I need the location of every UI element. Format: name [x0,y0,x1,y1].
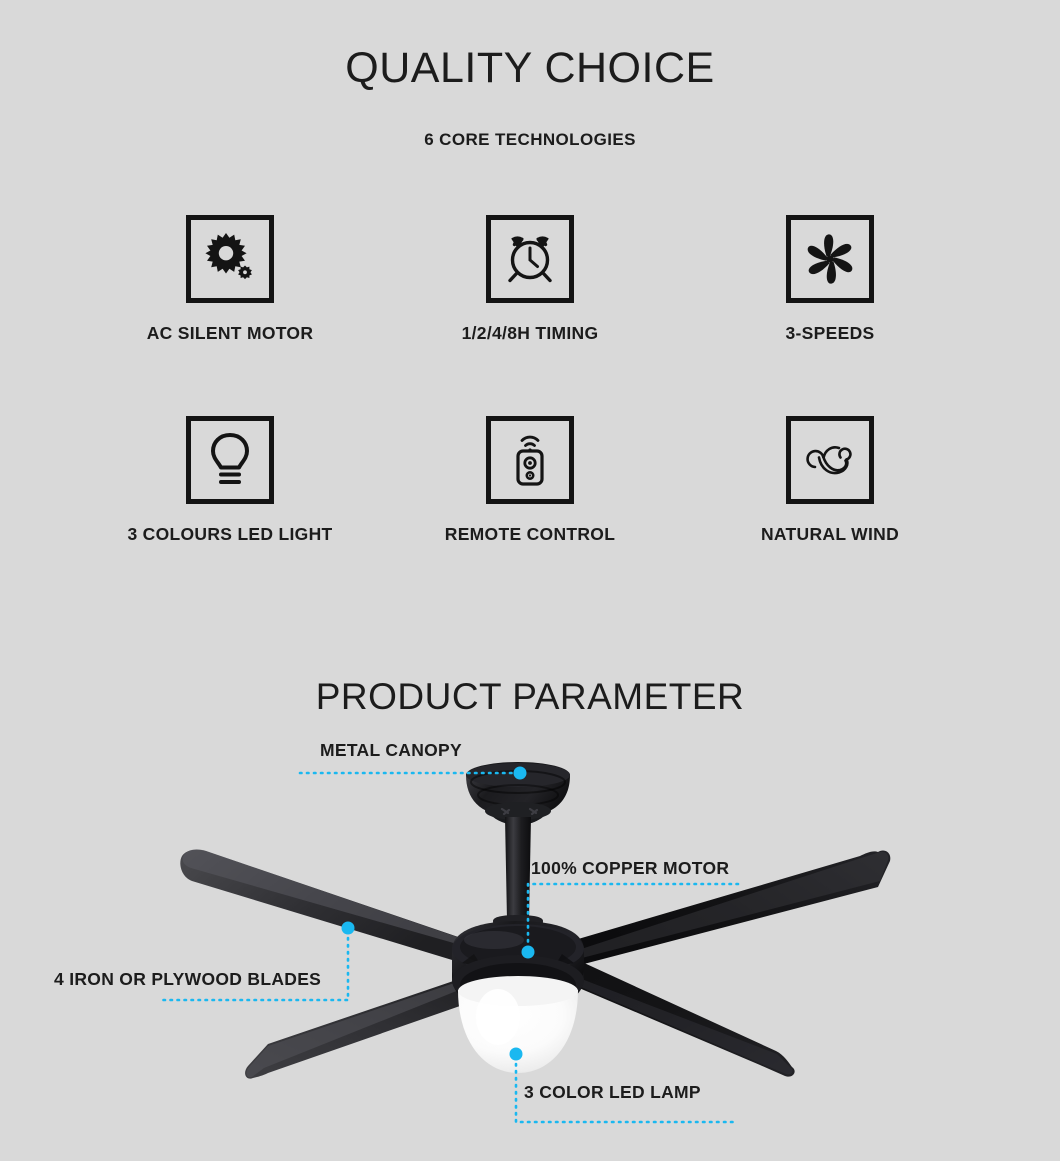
product-section-title: PRODUCT PARAMETER [0,676,1060,718]
infographic-page: QUALITY CHOICE 6 CORE TECHNOLOGIES [0,0,1060,1161]
feature-icon-box [486,416,574,504]
callout-label-metal-canopy: METAL CANOPY [320,740,462,761]
feature-label: REMOTE CONTROL [445,524,615,545]
feature-row-2: 3 COLOURS LED LIGHT [80,416,980,545]
feature-icon-box [486,215,574,303]
page-title: QUALITY CHOICE [0,44,1060,93]
fan-downrod [505,817,531,925]
feature-icon-box [186,416,274,504]
fan-canopy [466,762,570,825]
fan-blades-icon [801,230,859,288]
feature-timing: 1/2/4/8H TIMING [380,215,680,344]
feature-icon-box [786,416,874,504]
feature-grid: AC SILENT MOTOR [80,215,980,545]
feature-label: 3-SPEEDS [786,323,875,344]
feature-label: 3 COLOURS LED LIGHT [127,524,332,545]
remote-control-icon [503,429,557,491]
feature-speeds: 3-SPEEDS [680,215,980,344]
feature-natural-wind: NATURAL WIND [680,416,980,545]
gear-sunburst-icon [200,229,260,289]
feature-remote-control: REMOTE CONTROL [380,416,680,545]
callout-label-blades: 4 IRON OR PLYWOOD BLADES [54,969,321,990]
callout-label-copper-motor: 100% COPPER MOTOR [531,858,729,879]
feature-label: 1/2/4/8H TIMING [462,323,599,344]
feature-icon-box [786,215,874,303]
feature-icon-box [186,215,274,303]
callout-label-led-lamp: 3 COLOR LED LAMP [524,1082,701,1103]
feature-row-1: AC SILENT MOTOR [80,215,980,344]
page-subtitle: 6 CORE TECHNOLOGIES [0,130,1060,150]
fan-led-glass-dome [458,976,578,1073]
feature-led-light: 3 COLOURS LED LIGHT [80,416,380,545]
feature-label: AC SILENT MOTOR [147,323,314,344]
feature-ac-silent-motor: AC SILENT MOTOR [80,215,380,344]
alarm-clock-icon [499,228,561,290]
wind-swirl-icon [799,435,861,485]
feature-label: NATURAL WIND [761,524,899,545]
light-bulb-icon [201,429,259,491]
